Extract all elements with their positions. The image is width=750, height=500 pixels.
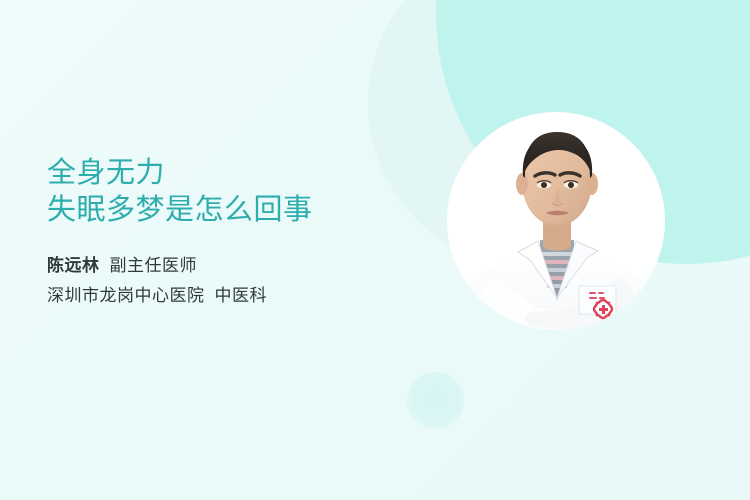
iris-left bbox=[541, 182, 547, 188]
doctor-name: 陈远林 bbox=[47, 256, 100, 275]
hand-right bbox=[620, 311, 644, 333]
poster-canvas: 全身无力 失眠多梦是怎么回事 陈远林副主任医师 深圳市龙岗中心医院中医科 bbox=[0, 0, 750, 500]
doctor-affiliation: 深圳市龙岗中心医院中医科 bbox=[47, 281, 397, 311]
doctor-byline: 陈远林副主任医师 bbox=[47, 251, 397, 281]
hospital-name: 深圳市龙岗中心医院 bbox=[47, 286, 205, 305]
coat-pocket bbox=[579, 286, 616, 314]
portrait-photo-group bbox=[440, 132, 740, 362]
ear-right bbox=[586, 173, 598, 195]
ear-left bbox=[516, 173, 528, 195]
iris-right bbox=[568, 182, 574, 188]
hand-left bbox=[466, 314, 491, 335]
doctor-title: 副主任医师 bbox=[110, 256, 198, 275]
doctor-portrait bbox=[440, 100, 740, 362]
headline: 全身无力 失眠多梦是怎么回事 bbox=[47, 155, 397, 229]
text-block: 全身无力 失眠多梦是怎么回事 陈远林副主任医师 深圳市龙岗中心医院中医科 bbox=[47, 155, 397, 311]
decorative-small-circle bbox=[407, 372, 464, 429]
department-name: 中医科 bbox=[215, 286, 268, 305]
